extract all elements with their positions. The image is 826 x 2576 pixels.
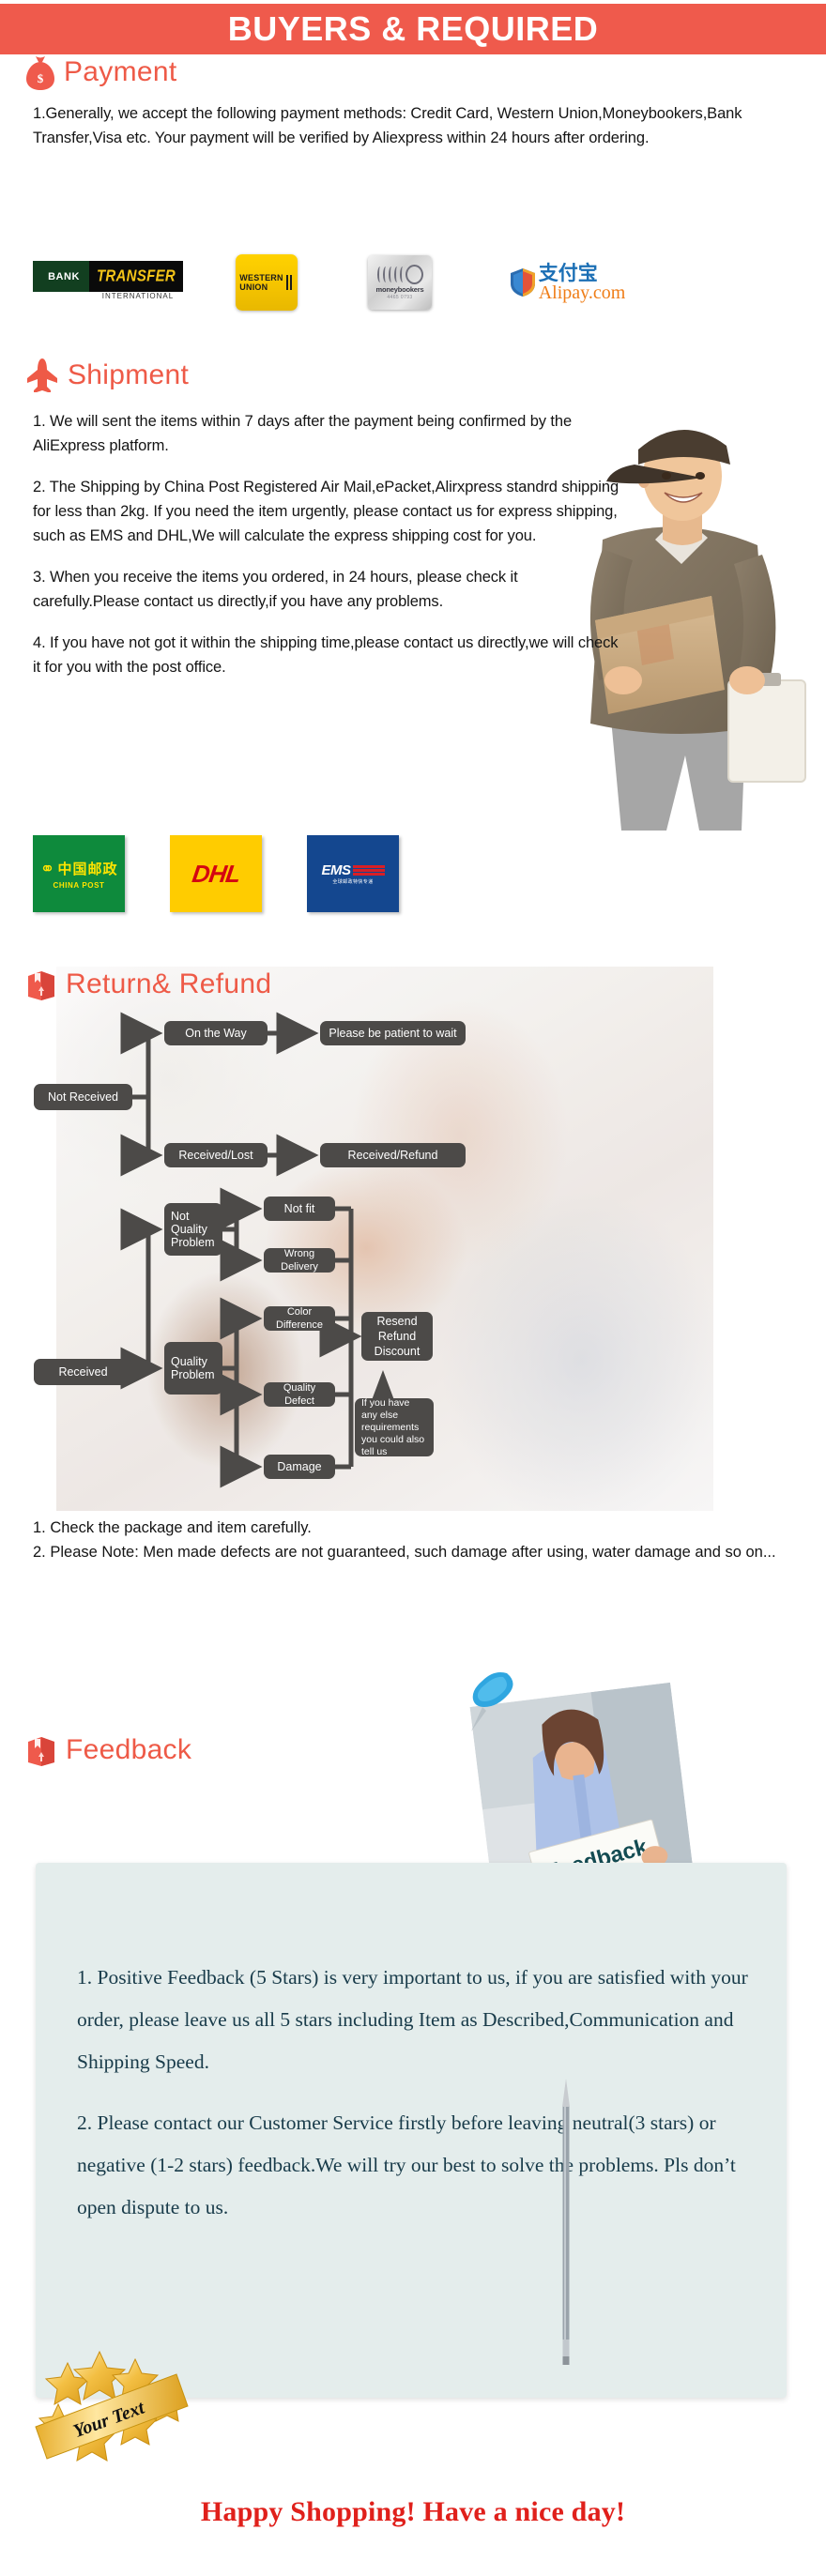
section-header-payment: $ Payment xyxy=(26,54,177,90)
shipment-logo-row: ⚭ 中国邮政 CHINA POST DHL EMS 全球邮政特快专递 xyxy=(33,835,399,912)
alipay-shield-icon xyxy=(511,268,535,297)
flow-node-color-difference[interactable]: Color Difference xyxy=(264,1306,335,1331)
flow-node-on-the-way[interactable]: On the Way xyxy=(164,1021,268,1045)
flow-node-received-lost[interactable]: Received/Lost xyxy=(164,1143,268,1167)
feedback-body: 1. Positive Feedback (5 Stars) is very i… xyxy=(77,1957,753,2229)
bank-transfer-word-international: INTERNATIONAL xyxy=(93,292,183,300)
banner-title: BUYERS & REQUIRED xyxy=(228,9,599,49)
bank-transfer-word-transfer: TRANSFER xyxy=(97,267,176,286)
moneybookers-card-number: 4465 0793 xyxy=(387,295,412,300)
ems-chinese-name: 全球邮政特快专递 xyxy=(332,878,373,885)
gold-star-badge: Your Text xyxy=(30,2346,199,2468)
ems-wordmark: EMS xyxy=(321,862,350,878)
section-title-return: Return& Refund xyxy=(66,968,271,1000)
china-post-logo: ⚭ 中国邮政 CHINA POST xyxy=(33,835,125,912)
dhl-logo: DHL xyxy=(170,835,262,912)
page-banner: BUYERS & REQUIRED xyxy=(0,4,826,54)
bank-transfer-logo: BANK TRANSFER INTERNATIONAL xyxy=(33,261,183,304)
alipay-chinese-wordmark: 支付宝 xyxy=(539,263,598,283)
bank-transfer-word-bank: BANK xyxy=(48,271,80,282)
feedback-paragraph-2: 2. Please contact our Customer Service f… xyxy=(77,2102,753,2229)
money-bag-icon: $ xyxy=(26,54,54,90)
airplane-icon xyxy=(26,358,58,392)
payment-body: 1.Generally, we accept the following pay… xyxy=(33,101,788,150)
flow-node-wrong-delivery[interactable]: Wrong Delivery xyxy=(264,1248,335,1273)
return-box-icon xyxy=(26,968,56,1000)
pencil-icon xyxy=(559,2079,568,2360)
flow-node-quality-defect[interactable]: Quality Defect xyxy=(264,1382,335,1407)
china-post-english-name: CHINA POST xyxy=(53,881,104,890)
china-post-chinese-name: 中国邮政 xyxy=(57,859,117,878)
payment-paragraph-1: 1.Generally, we accept the following pay… xyxy=(33,101,788,150)
push-pin-icon xyxy=(469,1666,522,1738)
flow-node-received-refund[interactable]: Received/Refund xyxy=(320,1143,466,1167)
flow-node-not-received[interactable]: Not Received xyxy=(34,1084,132,1110)
product-description-page: BUYERS & REQUIRED $ Payment 1.Generally,… xyxy=(0,0,826,2576)
section-title-shipment: Shipment xyxy=(68,359,189,391)
flow-node-damage[interactable]: Damage xyxy=(264,1455,335,1479)
svg-text:$: $ xyxy=(38,71,44,85)
feedback-box-icon xyxy=(26,1734,56,1766)
return-note-2: 2. Please Note: Men made defects are not… xyxy=(33,1540,803,1564)
flow-node-not-fit[interactable]: Not fit xyxy=(264,1197,335,1221)
section-title-payment: Payment xyxy=(64,56,177,88)
section-title-feedback: Feedback xyxy=(66,1734,191,1766)
flow-node-received[interactable]: Received xyxy=(34,1359,132,1385)
alipay-domain: Alipay.com xyxy=(539,283,626,303)
flow-node-please-be-patient[interactable]: Please be patient to wait xyxy=(320,1021,466,1045)
section-header-shipment: Shipment xyxy=(26,358,189,392)
section-header-feedback: Feedback xyxy=(26,1734,191,1766)
shipment-paragraph-2: 2. The Shipping by China Post Registered… xyxy=(33,475,624,548)
footer-message: Happy Shopping! Have a nice day! xyxy=(0,2496,826,2528)
flow-node-not-quality-problem[interactable]: Not Quality Problem xyxy=(164,1203,222,1256)
western-union-word-western: WESTERN xyxy=(239,273,283,282)
feedback-paragraph-1: 1. Positive Feedback (5 Stars) is very i… xyxy=(77,1957,753,2083)
ems-stripes-icon xyxy=(353,865,385,876)
flow-node-tell-us-callout[interactable]: If you have any else requirements you co… xyxy=(355,1398,434,1456)
moneybookers-mark-icon xyxy=(377,265,423,284)
shipment-body: 1. We will sent the items within 7 days … xyxy=(33,409,624,679)
alipay-logo: 支付宝 Alipay.com xyxy=(497,254,638,311)
dhl-wordmark: DHL xyxy=(191,860,242,889)
western-union-bars-icon xyxy=(286,274,294,291)
section-header-return: Return& Refund xyxy=(26,968,271,1000)
ems-logo: EMS 全球邮政特快专递 xyxy=(307,835,399,912)
return-note-1: 1. Check the package and item carefully. xyxy=(33,1516,793,1540)
shipment-paragraph-3: 3. When you receive the items you ordere… xyxy=(33,565,624,614)
flow-node-quality-problem[interactable]: Quality Problem xyxy=(164,1342,222,1395)
western-union-logo: WESTERN UNION xyxy=(236,254,298,311)
shipment-paragraph-4: 4. If you have not got it within the shi… xyxy=(33,631,624,679)
flow-node-resend-refund-discount[interactable]: Resend Refund Discount xyxy=(361,1312,433,1361)
western-union-word-union: UNION xyxy=(239,282,283,292)
shipment-paragraph-1: 1. We will sent the items within 7 days … xyxy=(33,409,624,458)
china-post-emblem-icon: ⚭ xyxy=(40,859,54,879)
payment-logo-row: BANK TRANSFER INTERNATIONAL WESTERN UNIO… xyxy=(33,249,793,316)
moneybookers-logo: moneybookers 4465 0793 xyxy=(368,255,432,310)
moneybookers-wordmark: moneybookers xyxy=(376,285,424,294)
